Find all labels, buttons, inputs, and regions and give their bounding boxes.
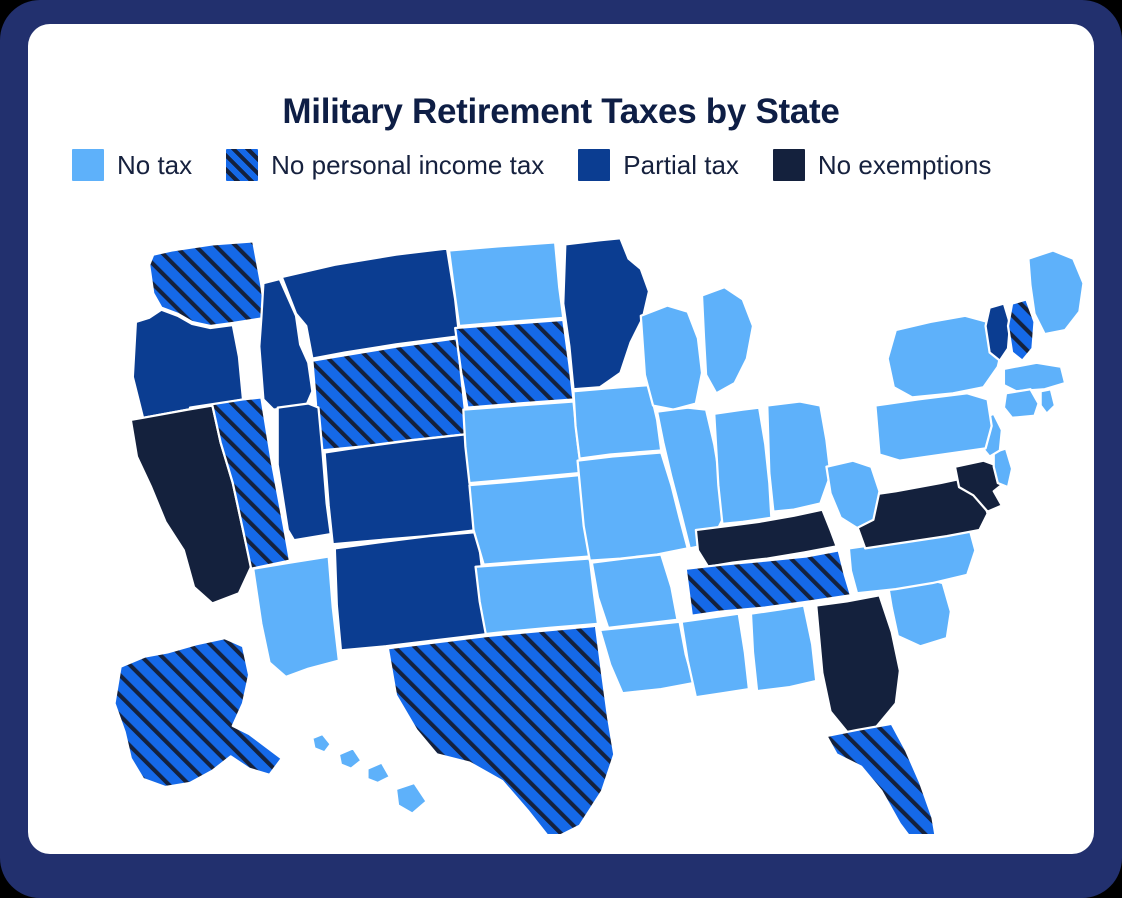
state-minnesota[interactable] — [563, 238, 649, 389]
us-choropleth-map — [28, 214, 1094, 834]
state-colorado[interactable] — [325, 434, 478, 544]
legend-item-no-exemptions[interactable]: No exemptions — [773, 149, 991, 181]
state-wisconsin[interactable] — [641, 306, 702, 410]
state-delaware[interactable] — [994, 448, 1012, 487]
state-alaska[interactable] — [114, 638, 281, 787]
state-alabama[interactable] — [751, 605, 816, 691]
state-mississippi[interactable] — [682, 614, 749, 698]
legend-swatch-no-exemptions — [773, 149, 805, 181]
state-pennsylvania[interactable] — [875, 393, 991, 460]
state-michigan[interactable] — [702, 287, 753, 393]
state-georgia[interactable] — [816, 595, 900, 734]
infographic-card: Military Retirement Taxes by State No ta… — [28, 24, 1094, 854]
legend-label-no-income-tax: No personal income tax — [271, 149, 544, 181]
state-oklahoma[interactable] — [476, 559, 598, 634]
legend-label-no-exemptions: No exemptions — [818, 149, 991, 181]
page-frame: Military Retirement Taxes by State No ta… — [0, 0, 1122, 898]
state-connecticut[interactable] — [1004, 389, 1039, 418]
state-west-virginia[interactable] — [826, 461, 879, 528]
state-new-hampshire[interactable] — [1008, 299, 1035, 360]
page-title: Military Retirement Taxes by State — [28, 92, 1094, 132]
legend-item-no-tax[interactable]: No tax — [72, 149, 192, 181]
legend-swatch-no-income-tax — [226, 149, 258, 181]
legend-label-partial-tax: Partial tax — [623, 149, 739, 181]
map-legend: No tax No personal income tax Partial ta… — [72, 145, 1062, 185]
state-south-dakota[interactable] — [455, 320, 573, 408]
state-nebraska[interactable] — [463, 401, 581, 483]
legend-item-no-income-tax[interactable]: No personal income tax — [226, 149, 544, 181]
state-massachusetts[interactable] — [1004, 363, 1065, 392]
state-new-mexico[interactable] — [335, 532, 488, 650]
state-florida[interactable] — [826, 724, 936, 834]
state-maine[interactable] — [1028, 251, 1083, 335]
state-north-dakota[interactable] — [449, 242, 563, 326]
legend-swatch-partial-tax — [578, 149, 610, 181]
state-ohio[interactable] — [767, 401, 830, 511]
legend-item-partial-tax[interactable]: Partial tax — [578, 149, 739, 181]
us-map-svg — [28, 214, 1094, 834]
state-iowa[interactable] — [573, 385, 661, 458]
state-hawaii[interactable] — [312, 734, 426, 814]
state-kansas[interactable] — [469, 475, 589, 565]
legend-label-no-tax: No tax — [117, 149, 192, 181]
state-indiana[interactable] — [714, 408, 771, 524]
legend-swatch-no-tax — [72, 149, 104, 181]
state-rhode-island[interactable] — [1041, 389, 1055, 413]
state-arkansas[interactable] — [592, 554, 678, 627]
state-arizona[interactable] — [253, 557, 339, 677]
state-louisiana[interactable] — [600, 622, 694, 693]
state-vermont[interactable] — [986, 304, 1010, 361]
